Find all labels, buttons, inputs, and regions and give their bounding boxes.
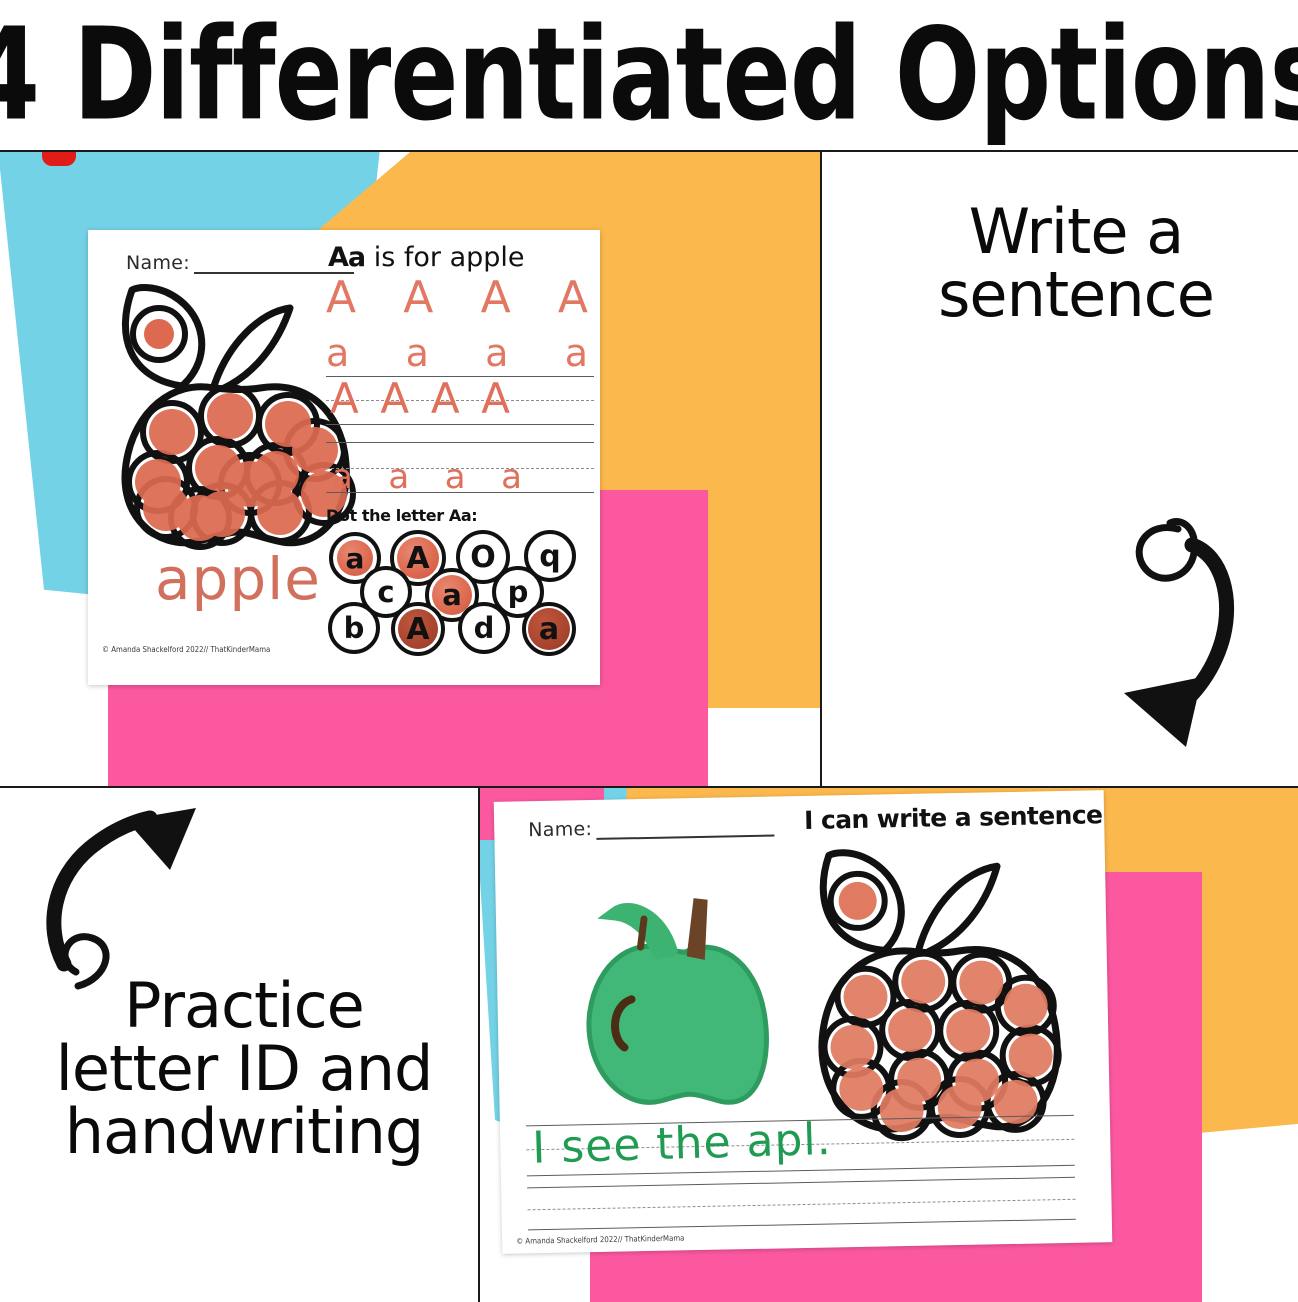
dot-bubble[interactable]: d [458, 602, 510, 654]
callout-line-3: handwriting [4, 1100, 478, 1163]
bubble-letter: b [344, 611, 365, 645]
trace-glyph: A [403, 276, 433, 320]
bubble-letter: q [539, 539, 560, 574]
copyright-credit: © Amanda Shackelford 2022// ThatKinderMa… [102, 646, 270, 655]
apple-dot-art-outline [110, 282, 360, 550]
curly-arrow-down-left-icon [1082, 507, 1282, 767]
bubble-letter: a [442, 578, 462, 612]
written-glyph: A [330, 378, 359, 420]
heading-letter-aa: Aa [328, 242, 365, 273]
written-glyph: a [445, 460, 466, 494]
trace-glyph: a [326, 334, 349, 372]
bubble-letter: a [346, 542, 365, 575]
name-field-row: Name: [126, 252, 354, 274]
trace-glyph: A [326, 276, 356, 320]
name-input-line[interactable] [596, 821, 774, 840]
trace-row-lowercase: a a a a [326, 334, 588, 372]
apple-dot-art-outline [804, 829, 1070, 1154]
photo-panel-sentence-worksheet: Name: I can write a sentence [478, 786, 1298, 1302]
dot-bubble[interactable]: A [391, 602, 445, 656]
trace-row-uppercase: A A A A [326, 276, 588, 320]
copyright-credit: © Amanda Shackelford 2022// ThatKinderMa… [516, 1234, 684, 1246]
callout-line-2: letter ID and [4, 1037, 478, 1100]
dot-letter-prompt: Dot the letter Aa: [326, 506, 477, 525]
written-glyph: a [332, 460, 353, 494]
bubble-letter: d [474, 611, 495, 645]
lined-row-uppercase: A A A A [330, 378, 510, 420]
name-field-row: Name: [528, 815, 774, 842]
trace-glyph: a [485, 334, 508, 372]
lined-row-lowercase: a a a a [332, 460, 522, 494]
curly-arrow-up-right-icon [20, 796, 210, 996]
written-glyph: A [481, 378, 510, 420]
red-marker-cap [42, 152, 76, 166]
page-title: 4 Differentiated Options [0, 12, 1298, 139]
written-glyph: a [501, 460, 522, 494]
title-banner: 4 Differentiated Options [0, 0, 1298, 152]
sentence-line-top-2 [527, 1177, 1075, 1189]
trace-glyph: A [558, 276, 588, 320]
worksheet-letter-a: Name: Aa is for apple [88, 230, 600, 685]
trace-glyph: a [565, 334, 588, 372]
written-glyph: A [380, 378, 409, 420]
product-preview-image: 4 Differentiated Options Name: Aa is for… [0, 0, 1298, 1302]
bubble-letter: O [470, 540, 496, 575]
worksheet-sentence: Name: I can write a sentence [494, 790, 1113, 1254]
bubble-letter: a [539, 612, 559, 647]
written-glyph: A [431, 378, 460, 420]
bubble-letter: A [406, 541, 429, 576]
sentence-line-mid-2 [528, 1199, 1076, 1211]
name-label: Name: [528, 818, 592, 841]
trace-glyph: a [406, 334, 429, 372]
heading-rest: is for apple [374, 242, 525, 273]
handwriting-top-line-2 [326, 442, 594, 443]
callout-line-1: Practice [4, 974, 478, 1037]
callout-write-sentence: Write a sentence [866, 200, 1286, 326]
dot-bubble[interactable]: b [328, 602, 380, 654]
handwriting-base-line [326, 424, 594, 425]
student-sentence-handwriting: I see the apl. [532, 1114, 833, 1175]
trace-glyph: A [481, 276, 511, 320]
name-label: Name: [126, 252, 190, 274]
dot-bubble[interactable]: a [522, 602, 576, 656]
bubble-letter: c [377, 575, 394, 609]
photo-panel-letter-worksheet: Name: Aa is for apple [0, 150, 822, 788]
written-glyph: a [388, 460, 409, 494]
word-trace-apple: apple [118, 550, 358, 608]
sentence-line-base-2 [528, 1219, 1076, 1231]
callout-panel-practice: Practice letter ID and handwriting [0, 786, 480, 1302]
handwriting-top-line [326, 376, 594, 377]
callout-practice-letter-id: Practice letter ID and handwriting [4, 974, 478, 1164]
worksheet-heading: Aa is for apple [328, 242, 525, 273]
bubble-letter: p [508, 575, 529, 609]
green-apple-drawing [574, 893, 778, 1127]
callout-panel-write-sentence: Write a sentence [820, 150, 1298, 788]
bubble-letter: A [406, 612, 429, 647]
